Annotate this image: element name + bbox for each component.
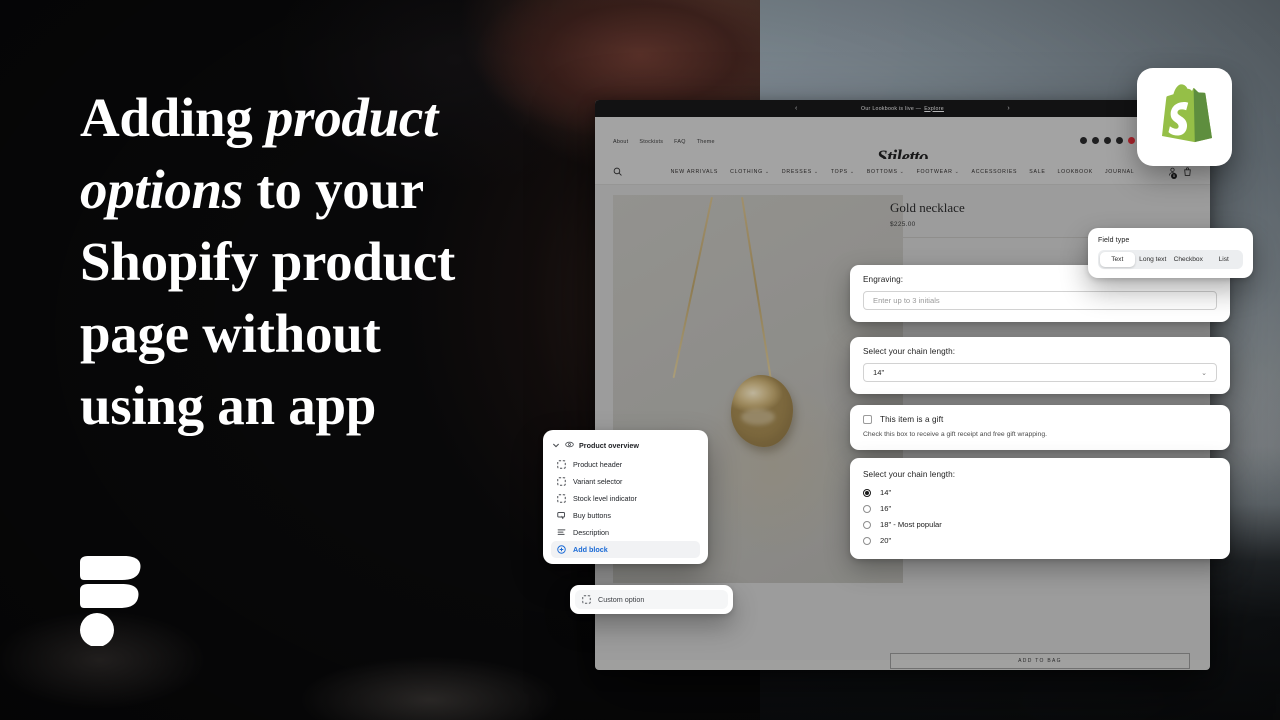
theme-editor-blocks-panel[interactable]: Product overview Product header Variant …	[543, 430, 708, 564]
pendant	[731, 375, 793, 447]
shopify-badge	[1137, 68, 1232, 166]
nav-item-journal[interactable]: JOURNAL	[1105, 169, 1134, 175]
utility-link-about[interactable]: About	[613, 139, 628, 145]
gift-checkbox[interactable]	[863, 415, 872, 424]
social-icons	[1080, 137, 1135, 144]
block-product-header[interactable]: Product header	[551, 456, 700, 473]
nav-item-clothing[interactable]: CLOTHING⌄	[730, 169, 770, 175]
headline-line4: page without	[80, 303, 380, 364]
announcement-text: Our Lookbook is live —	[861, 106, 921, 112]
radio-option-16[interactable]: 16"	[863, 504, 1217, 513]
block-label: Variant selector	[573, 477, 622, 486]
radio-label: 20"	[880, 536, 891, 545]
product-title: Gold necklace	[890, 200, 965, 216]
section-header-product-overview[interactable]: Product overview	[551, 438, 700, 456]
radio-option-14[interactable]: 14"	[863, 488, 1217, 497]
nav-label: LOOKBOOK	[1058, 169, 1093, 175]
facebook-icon[interactable]	[1080, 137, 1087, 144]
gift-option-card[interactable]: This item is a gift Check this box to re…	[850, 405, 1230, 450]
chain-length-value: 14"	[873, 368, 884, 377]
pinterest-icon[interactable]	[1092, 137, 1099, 144]
nav-item-dresses[interactable]: DRESSES⌄	[782, 169, 819, 175]
nav-label: FOOTWEAR	[917, 169, 953, 175]
chain-radio-label: Select your chain length:	[863, 470, 1217, 479]
nav-item-lookbook[interactable]: LOOKBOOK	[1058, 169, 1093, 175]
custom-option-menu-item[interactable]: Custom option	[570, 585, 733, 614]
block-variant-selector[interactable]: Variant selector	[551, 473, 700, 490]
announcement-link[interactable]: Explore	[924, 106, 944, 112]
engraving-input[interactable]: Enter up to 3 initials	[863, 291, 1217, 310]
radio-dot[interactable]	[863, 521, 871, 529]
fera-f-logo	[78, 556, 144, 646]
instagram-icon[interactable]	[1104, 137, 1111, 144]
tiktok-icon[interactable]	[1116, 137, 1123, 144]
page-title: Adding product options to your Shopify p…	[80, 82, 580, 442]
add-block-label: Add block	[573, 545, 608, 554]
field-type-option-checkbox[interactable]: Checkbox	[1171, 252, 1206, 267]
cart-count-badge: 0	[1171, 173, 1177, 179]
headline-line3: Shopify product	[80, 231, 455, 292]
radio-dot[interactable]	[863, 537, 871, 545]
nav-list: NEW ARRIVALS CLOTHING⌄ DRESSES⌄ TOPS⌄ BO…	[671, 169, 1135, 175]
field-type-option-long-text[interactable]: Long text	[1136, 252, 1171, 267]
block-label: Buy buttons	[573, 511, 611, 520]
dashed-block-icon	[557, 494, 566, 503]
section-title: Product overview	[579, 441, 639, 450]
field-type-segmented-control[interactable]: Text Long text Checkbox List	[1098, 250, 1243, 269]
radio-option-20[interactable]: 20"	[863, 536, 1217, 545]
product-price: $225.00	[890, 221, 916, 228]
nav-item-new-arrivals[interactable]: NEW ARRIVALS	[671, 169, 719, 175]
block-label: Product header	[573, 460, 622, 469]
nav-item-sale[interactable]: SALE	[1029, 169, 1045, 175]
custom-option-label: Custom option	[598, 595, 644, 604]
nav-item-bottoms[interactable]: BOTTOMS⌄	[867, 169, 905, 175]
buy-area: ADD TO BAG BUY IT NOW Description +	[890, 653, 1190, 670]
gift-checkbox-row[interactable]: This item is a gift	[863, 415, 1217, 424]
radio-label: 18" - Most popular	[880, 520, 942, 529]
field-type-popup[interactable]: Field type Text Long text Checkbox List	[1088, 228, 1253, 278]
headline-line5: using an app	[80, 375, 376, 436]
add-to-bag-button[interactable]: ADD TO BAG	[890, 653, 1190, 669]
block-description[interactable]: Description	[551, 524, 700, 541]
radio-label: 16"	[880, 504, 891, 513]
chevron-down-icon[interactable]	[552, 441, 560, 451]
add-block-button[interactable]: Add block	[551, 541, 700, 558]
nav-label: BOTTOMS	[867, 169, 898, 175]
chevron-down-icon: ⌄	[900, 169, 905, 175]
utility-links: About Stockists FAQ Theme	[613, 139, 715, 145]
nav-item-tops[interactable]: TOPS⌄	[831, 169, 855, 175]
chain-length-select[interactable]: 14" ⌄	[863, 363, 1217, 382]
chevron-down-icon: ⌄	[1201, 369, 1207, 377]
chain-length-select-card[interactable]: Select your chain length: 14" ⌄	[850, 337, 1230, 394]
utility-bar: About Stockists FAQ Theme Stiletto	[595, 117, 1210, 159]
engraving-placeholder: Enter up to 3 initials	[873, 296, 940, 305]
nav-label: DRESSES	[782, 169, 812, 175]
nav-label: NEW ARRIVALS	[671, 169, 719, 175]
cursor-block-icon	[557, 511, 566, 520]
dashed-block-icon	[557, 460, 566, 469]
chevron-down-icon: ⌄	[765, 169, 770, 175]
radio-label: 14"	[880, 488, 891, 497]
announcement-bar: ‹ Our Lookbook is live — Explore ›	[595, 100, 1210, 117]
headline-line1-b: product	[266, 87, 438, 148]
radio-option-18[interactable]: 18" - Most popular	[863, 520, 1217, 529]
field-type-option-text[interactable]: Text	[1100, 252, 1135, 267]
search-icon[interactable]	[613, 163, 622, 181]
nav-label: SALE	[1029, 169, 1045, 175]
chain-select-label: Select your chain length:	[863, 347, 1217, 356]
shopify-bag-logo	[1154, 83, 1216, 151]
gift-checkbox-label: This item is a gift	[880, 415, 943, 424]
utility-link-theme[interactable]: Theme	[697, 139, 715, 145]
headline-line2-b: to your	[243, 159, 424, 220]
section-eye-icon	[565, 440, 574, 451]
chain-strand-right	[741, 197, 773, 385]
block-label: Stock level indicator	[573, 494, 637, 503]
radio-dot-selected[interactable]	[863, 489, 871, 497]
nav-item-footwear[interactable]: FOOTWEAR⌄	[917, 169, 960, 175]
announcement-prev-arrow[interactable]: ‹	[795, 105, 798, 112]
gift-help-text: Check this box to receive a gift receipt…	[863, 431, 1217, 438]
utility-link-faq[interactable]: FAQ	[674, 139, 686, 145]
dashed-block-icon	[557, 477, 566, 486]
text-lines-icon	[557, 528, 566, 537]
headline-line2-a: options	[80, 159, 243, 220]
chevron-down-icon: ⌄	[850, 169, 855, 175]
block-label: Description	[573, 528, 609, 537]
utility-link-stockists[interactable]: Stockists	[639, 139, 663, 145]
headline-line1-a: Adding	[80, 87, 266, 148]
main-navigation: NEW ARRIVALS CLOTHING⌄ DRESSES⌄ TOPS⌄ BO…	[595, 159, 1210, 185]
field-type-option-list[interactable]: List	[1207, 252, 1242, 267]
block-stock-level-indicator[interactable]: Stock level indicator	[551, 490, 700, 507]
radio-dot[interactable]	[863, 505, 871, 513]
nav-item-accessories[interactable]: ACCESSORIES	[972, 169, 1018, 175]
custom-option-row[interactable]: Custom option	[575, 590, 728, 609]
chain-strand-left	[673, 197, 713, 378]
youtube-icon[interactable]	[1128, 137, 1135, 144]
dashed-block-icon	[582, 595, 591, 604]
chevron-down-icon: ⌄	[955, 169, 960, 175]
block-buy-buttons[interactable]: Buy buttons	[551, 507, 700, 524]
nav-label: ACCESSORIES	[972, 169, 1018, 175]
field-type-title: Field type	[1098, 237, 1243, 244]
nav-label: TOPS	[831, 169, 848, 175]
nav-label: JOURNAL	[1105, 169, 1134, 175]
plus-circle-icon	[557, 545, 566, 554]
chain-length-radio-card[interactable]: Select your chain length: 14" 16" 18" - …	[850, 458, 1230, 559]
chevron-down-icon: ⌄	[814, 169, 819, 175]
nav-label: CLOTHING	[730, 169, 763, 175]
chain-radio-list: 14" 16" 18" - Most popular 20"	[863, 488, 1217, 545]
announcement-next-arrow[interactable]: ›	[1007, 105, 1010, 112]
